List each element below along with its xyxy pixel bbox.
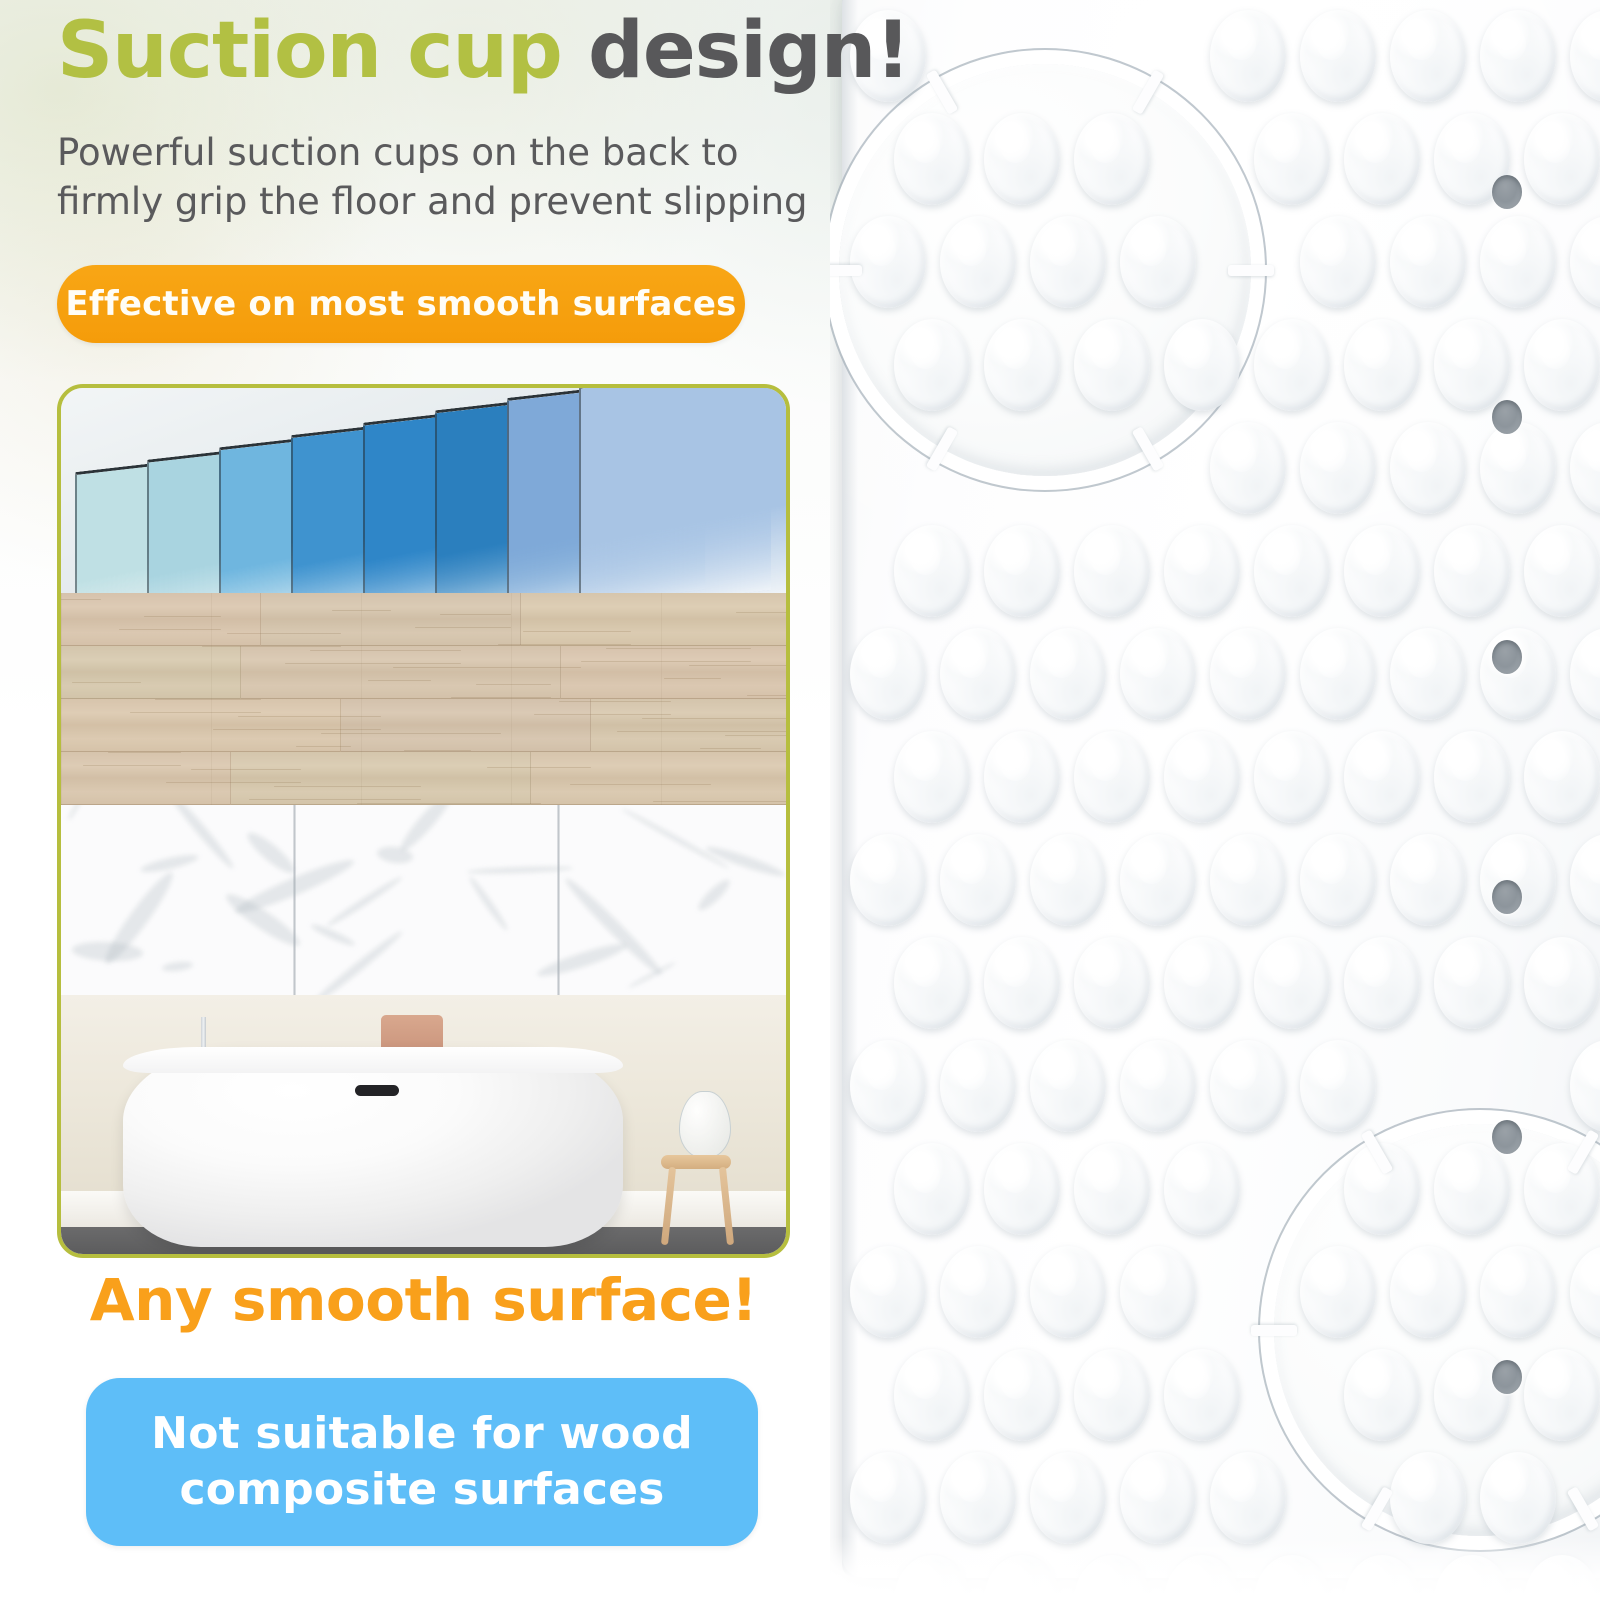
- wood-grain: [321, 733, 501, 734]
- wood-plank: [261, 593, 521, 646]
- wood-grain: [249, 799, 421, 800]
- wood-grain: [213, 729, 381, 730]
- suction-cup: [850, 628, 926, 720]
- badge-effective-label: Effective on most smooth surfaces: [65, 284, 736, 324]
- suction-cup: [894, 1143, 970, 1235]
- marble-vein: [67, 805, 85, 821]
- suction-cup: [1480, 834, 1556, 926]
- suction-cup: [1344, 1349, 1420, 1441]
- suction-cup: [1480, 1452, 1556, 1544]
- wood-plank: [591, 699, 786, 752]
- suction-cup: [984, 319, 1060, 411]
- wood-grain: [108, 752, 181, 753]
- bath-mat-bottom-fade: [830, 1536, 1600, 1600]
- wood-grain: [357, 803, 541, 804]
- marble-vein: [396, 805, 458, 855]
- wood-grain: [166, 782, 301, 783]
- drainage-hole: [1492, 175, 1522, 209]
- suction-cup: [1390, 10, 1466, 102]
- suction-cup: [1120, 628, 1196, 720]
- drainage-hole: [1492, 880, 1522, 914]
- wood-grain: [393, 667, 581, 668]
- marble-vein: [308, 928, 405, 995]
- suction-cup: [1030, 1246, 1106, 1338]
- suction-cup: [1524, 319, 1600, 411]
- wood-grain: [570, 784, 711, 785]
- suction-cup: [1344, 937, 1420, 1029]
- wood-grain: [310, 650, 461, 651]
- suction-cup: [1164, 525, 1240, 617]
- wood-grain: [487, 767, 591, 768]
- wood-grain: [747, 695, 786, 696]
- suction-cup: [1390, 422, 1466, 514]
- suction-cup: [1524, 1143, 1600, 1235]
- drainage-hole: [1492, 640, 1522, 674]
- suction-cup: [1434, 1143, 1510, 1235]
- suction-cup: [1120, 1040, 1196, 1132]
- marble-vein: [620, 806, 730, 870]
- wood-grain: [83, 765, 181, 766]
- wood-plank: [61, 752, 231, 805]
- suction-cup: [1074, 113, 1150, 205]
- wood-plank: [241, 646, 561, 699]
- suction-cup: [984, 937, 1060, 1029]
- wood-grain: [476, 684, 551, 685]
- wood-grain: [202, 646, 341, 647]
- wood-grain: [617, 731, 786, 732]
- suction-cup: [1344, 319, 1420, 411]
- suction-cup: [1074, 731, 1150, 823]
- wood-grain: [642, 718, 786, 719]
- glass-vase: [679, 1091, 731, 1159]
- wood-grain: [368, 680, 431, 681]
- drainage-hole: [1492, 1360, 1522, 1394]
- suction-cup: [1074, 525, 1150, 617]
- wood-plank: [561, 646, 786, 699]
- suction-cup: [1434, 525, 1510, 617]
- headline-part-gray: design!: [588, 6, 910, 96]
- suction-cup: [1524, 525, 1600, 617]
- suction-cup: [1300, 628, 1376, 720]
- suction-cup: [940, 1452, 1016, 1544]
- suction-cup: [1300, 10, 1376, 102]
- suction-cup: [1300, 834, 1376, 926]
- badge-not-suitable-wood: Not suitable for wood composite surfaces: [86, 1378, 758, 1546]
- suction-cup: [894, 731, 970, 823]
- suction-cup: [940, 216, 1016, 308]
- suction-cup: [1120, 1246, 1196, 1338]
- suction-cup: [1254, 319, 1330, 411]
- suction-cup: [894, 113, 970, 205]
- marble-vein: [467, 875, 510, 932]
- wood-grain: [144, 616, 221, 617]
- suction-cup: [1120, 1452, 1196, 1544]
- suction-cup: [1480, 628, 1556, 720]
- wood-grain: [700, 748, 761, 749]
- suction-cup: [1480, 216, 1556, 308]
- wood-grain: [404, 750, 471, 751]
- left-content-column: Suction cup design! Powerful suction cup…: [0, 0, 830, 1600]
- wood-grain: [664, 678, 721, 679]
- suction-cup: [984, 731, 1060, 823]
- drainage-hole: [1492, 400, 1522, 434]
- drain-ring-spoke: [830, 265, 862, 276]
- suction-cup: [984, 1349, 1060, 1441]
- suction-cup: [1344, 525, 1420, 617]
- suction-cup: [1344, 113, 1420, 205]
- suction-cup: [1434, 319, 1510, 411]
- suction-cup: [894, 319, 970, 411]
- suction-cup: [1300, 422, 1376, 514]
- suction-cup: [1074, 937, 1150, 1029]
- suction-cup: [1164, 1349, 1240, 1441]
- wood-plank: [231, 752, 531, 805]
- subheadline-text: Powerful suction cups on the back to fir…: [57, 128, 817, 226]
- badge-not-suitable-line1: Not suitable for wood: [151, 1406, 693, 1462]
- suction-cup: [1164, 937, 1240, 1029]
- suction-cup: [850, 216, 926, 308]
- headline-part-green: Suction cup: [57, 6, 588, 96]
- wood-grain: [559, 701, 671, 702]
- suction-cup: [984, 113, 1060, 205]
- suction-cup: [1030, 628, 1106, 720]
- suction-cup: [894, 937, 970, 1029]
- grout-line: [293, 805, 296, 995]
- collage-glass-panes: [61, 388, 786, 593]
- product-photo-bath-mat: [830, 0, 1600, 1600]
- marble-vein: [309, 922, 356, 949]
- suction-cup: [1254, 937, 1330, 1029]
- wood-grain: [296, 746, 351, 747]
- suction-cup: [1480, 10, 1556, 102]
- wood-plank: [531, 752, 786, 805]
- bathtub: [123, 1047, 623, 1247]
- suction-cup: [1524, 731, 1600, 823]
- suction-cup: [1210, 834, 1286, 926]
- bathtub-overflow: [355, 1085, 399, 1096]
- suction-cup: [1030, 216, 1106, 308]
- wood-grain: [451, 697, 551, 698]
- drain-ring-spoke: [1251, 1325, 1297, 1336]
- suction-cup: [940, 834, 1016, 926]
- suction-cup: [1390, 628, 1466, 720]
- wood-grain: [653, 801, 786, 802]
- suction-cup: [1344, 731, 1420, 823]
- wood-grain: [736, 612, 786, 613]
- suction-cup: [1164, 1143, 1240, 1235]
- wood-grain: [332, 610, 391, 611]
- collage-marble-tile: [61, 805, 786, 995]
- suction-cup: [1030, 834, 1106, 926]
- page-title: Suction cup design!: [57, 12, 827, 90]
- suction-cup: [1390, 834, 1466, 926]
- suction-cup: [1300, 1040, 1376, 1132]
- wood-grain: [227, 633, 341, 634]
- suction-cup: [1074, 319, 1150, 411]
- glass-pane: [579, 388, 786, 593]
- suction-cup: [1164, 319, 1240, 411]
- marble-vein: [325, 874, 403, 928]
- suction-cup: [984, 525, 1060, 617]
- badge-not-suitable-line2: composite surfaces: [179, 1462, 664, 1518]
- suction-cup: [1524, 937, 1600, 1029]
- wood-plank: [61, 699, 341, 752]
- suction-cup: [1210, 1040, 1286, 1132]
- suction-cup: [850, 1246, 926, 1338]
- wood-grain: [523, 631, 631, 632]
- suction-cup: [1254, 113, 1330, 205]
- suction-cup: [1120, 216, 1196, 308]
- suction-cup: [1390, 1246, 1466, 1338]
- suction-cup: [1074, 1349, 1150, 1441]
- suction-cup: [894, 1349, 970, 1441]
- wood-grain: [498, 644, 631, 645]
- wood-grain: [581, 661, 751, 662]
- suction-cup: [1300, 1246, 1376, 1338]
- surface-collage-panel: [57, 384, 790, 1258]
- suction-cup: [984, 1143, 1060, 1235]
- bathtub-rim: [123, 1047, 623, 1073]
- suction-cup: [1030, 1452, 1106, 1544]
- suction-cup: [850, 834, 926, 926]
- collage-wood-flooring: [61, 593, 786, 805]
- wood-grain: [606, 648, 751, 649]
- suction-cup: [1074, 1143, 1150, 1235]
- wood-grain: [72, 682, 141, 683]
- suction-cup: [1254, 525, 1330, 617]
- suction-cup: [1030, 1040, 1106, 1132]
- wood-grain: [238, 716, 381, 717]
- suction-cup: [1120, 834, 1196, 926]
- wood-plank: [61, 646, 241, 699]
- wood-plank: [521, 593, 786, 646]
- drain-ring-spoke: [1228, 265, 1274, 276]
- suction-cup: [940, 628, 1016, 720]
- collage-bathroom-scene: [61, 995, 786, 1258]
- caption-any-smooth-surface: Any smooth surface!: [57, 1266, 790, 1334]
- suction-cup: [1390, 216, 1466, 308]
- suction-cup: [940, 1246, 1016, 1338]
- wood-grain: [130, 712, 261, 713]
- suction-cup: [1210, 1452, 1286, 1544]
- faucet-icon: [201, 1017, 206, 1051]
- suction-cup: [1390, 1452, 1466, 1544]
- suction-cup: [1524, 113, 1600, 205]
- badge-effective-surfaces: Effective on most smooth surfaces: [57, 265, 745, 343]
- wood-plank: [341, 699, 591, 752]
- suction-cup: [1480, 422, 1556, 514]
- wood-grain: [191, 769, 301, 770]
- wood-plank: [61, 593, 261, 646]
- suction-cup: [1434, 937, 1510, 1029]
- marble-vein: [535, 939, 629, 981]
- wood-grain: [274, 786, 421, 787]
- wood-grain: [725, 735, 786, 736]
- wood-grain: [155, 699, 261, 700]
- drainage-hole: [1492, 1120, 1522, 1154]
- suction-cup: [940, 1040, 1016, 1132]
- suction-cup: [1254, 731, 1330, 823]
- suction-cup: [1480, 1246, 1556, 1338]
- wood-grain: [689, 665, 786, 666]
- wood-grain: [61, 599, 101, 600]
- wood-grain: [415, 627, 511, 628]
- marble-vein: [162, 960, 194, 973]
- wood-grain: [534, 714, 671, 715]
- suction-cup: [1210, 628, 1286, 720]
- marble-vein: [243, 828, 299, 879]
- suction-cup: [850, 1452, 926, 1544]
- suction-cup: [1434, 731, 1510, 823]
- wood-grain: [285, 663, 461, 664]
- marble-vein: [695, 876, 734, 914]
- suction-cup: [1164, 731, 1240, 823]
- wood-grain: [119, 629, 221, 630]
- suction-cup: [1524, 1349, 1600, 1441]
- suction-cup: [850, 1040, 926, 1132]
- suction-cup: [894, 525, 970, 617]
- suction-cup: [1210, 10, 1286, 102]
- suction-cup: [1210, 422, 1286, 514]
- suction-cup: [1300, 216, 1376, 308]
- wood-grain: [440, 614, 511, 615]
